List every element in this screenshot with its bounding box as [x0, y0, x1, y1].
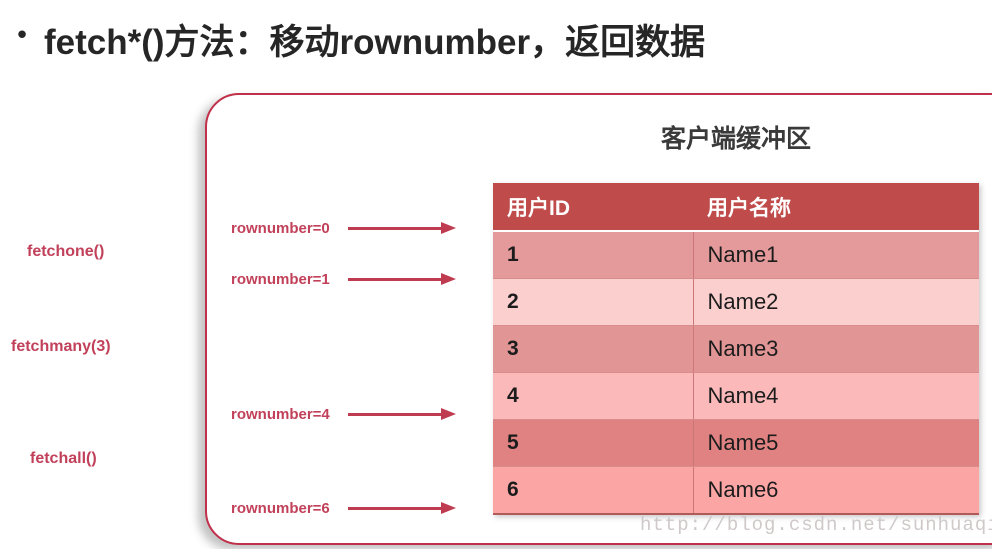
slide-canvas: • fetch*()方法：移动rownumber，返回数据 客户端缓冲区 用户I… [0, 0, 992, 549]
rownumber-label-1: rownumber=1 [231, 271, 330, 288]
method-label-fetchall: fetchall() [30, 450, 97, 468]
table-row: 4Name4 [493, 373, 979, 420]
watermark: http://blog.csdn.net/sunhuaqiang1 [640, 514, 992, 536]
rownumber-label-6: rownumber=6 [231, 500, 330, 517]
buffer-table: 用户ID 用户名称 1Name12Name23Name34Name45Name5… [493, 183, 979, 515]
bullet-icon: • [0, 23, 44, 55]
rownumber-annotation-4: rownumber=4 [231, 403, 456, 425]
table-row: 1Name1 [493, 231, 979, 279]
table-row: 2Name2 [493, 279, 979, 326]
cell-user-id: 5 [493, 420, 693, 467]
cell-user-name: Name2 [693, 279, 979, 326]
cell-user-name: Name4 [693, 373, 979, 420]
cell-user-name: Name1 [693, 231, 979, 279]
cell-user-id: 3 [493, 326, 693, 373]
table-row: 3Name3 [493, 326, 979, 373]
method-label-fetchmany: fetchmany(3) [11, 338, 111, 356]
table-row: 6Name6 [493, 467, 979, 515]
cell-user-id: 2 [493, 279, 693, 326]
cell-user-id: 4 [493, 373, 693, 420]
cell-user-id: 6 [493, 467, 693, 515]
rownumber-annotation-1: rownumber=1 [231, 268, 456, 290]
method-label-fetchone: fetchone() [27, 243, 104, 261]
cell-user-name: Name3 [693, 326, 979, 373]
rownumber-annotation-0: rownumber=0 [231, 217, 456, 239]
table-body: 1Name12Name23Name34Name45Name56Name6 [493, 231, 979, 514]
arrow-right-icon [348, 502, 456, 514]
arrow-right-icon [348, 273, 456, 285]
table-row: 5Name5 [493, 420, 979, 467]
panel-heading: 客户端缓冲区 [493, 119, 979, 155]
page-title-text: fetch*()方法：移动rownumber，返回数据 [44, 14, 705, 65]
column-header-user-name: 用户名称 [693, 183, 979, 231]
rownumber-annotation-6: rownumber=6 [231, 497, 456, 519]
table-header-row: 用户ID 用户名称 [493, 183, 979, 231]
page-title: • fetch*()方法：移动rownumber，返回数据 [0, 8, 992, 70]
cell-user-id: 1 [493, 231, 693, 279]
arrow-right-icon [348, 222, 456, 234]
rownumber-label-4: rownumber=4 [231, 406, 330, 423]
rownumber-label-0: rownumber=0 [231, 220, 330, 237]
cell-user-name: Name5 [693, 420, 979, 467]
cell-user-name: Name6 [693, 467, 979, 515]
column-header-user-id: 用户ID [493, 183, 693, 231]
arrow-right-icon [348, 408, 456, 420]
